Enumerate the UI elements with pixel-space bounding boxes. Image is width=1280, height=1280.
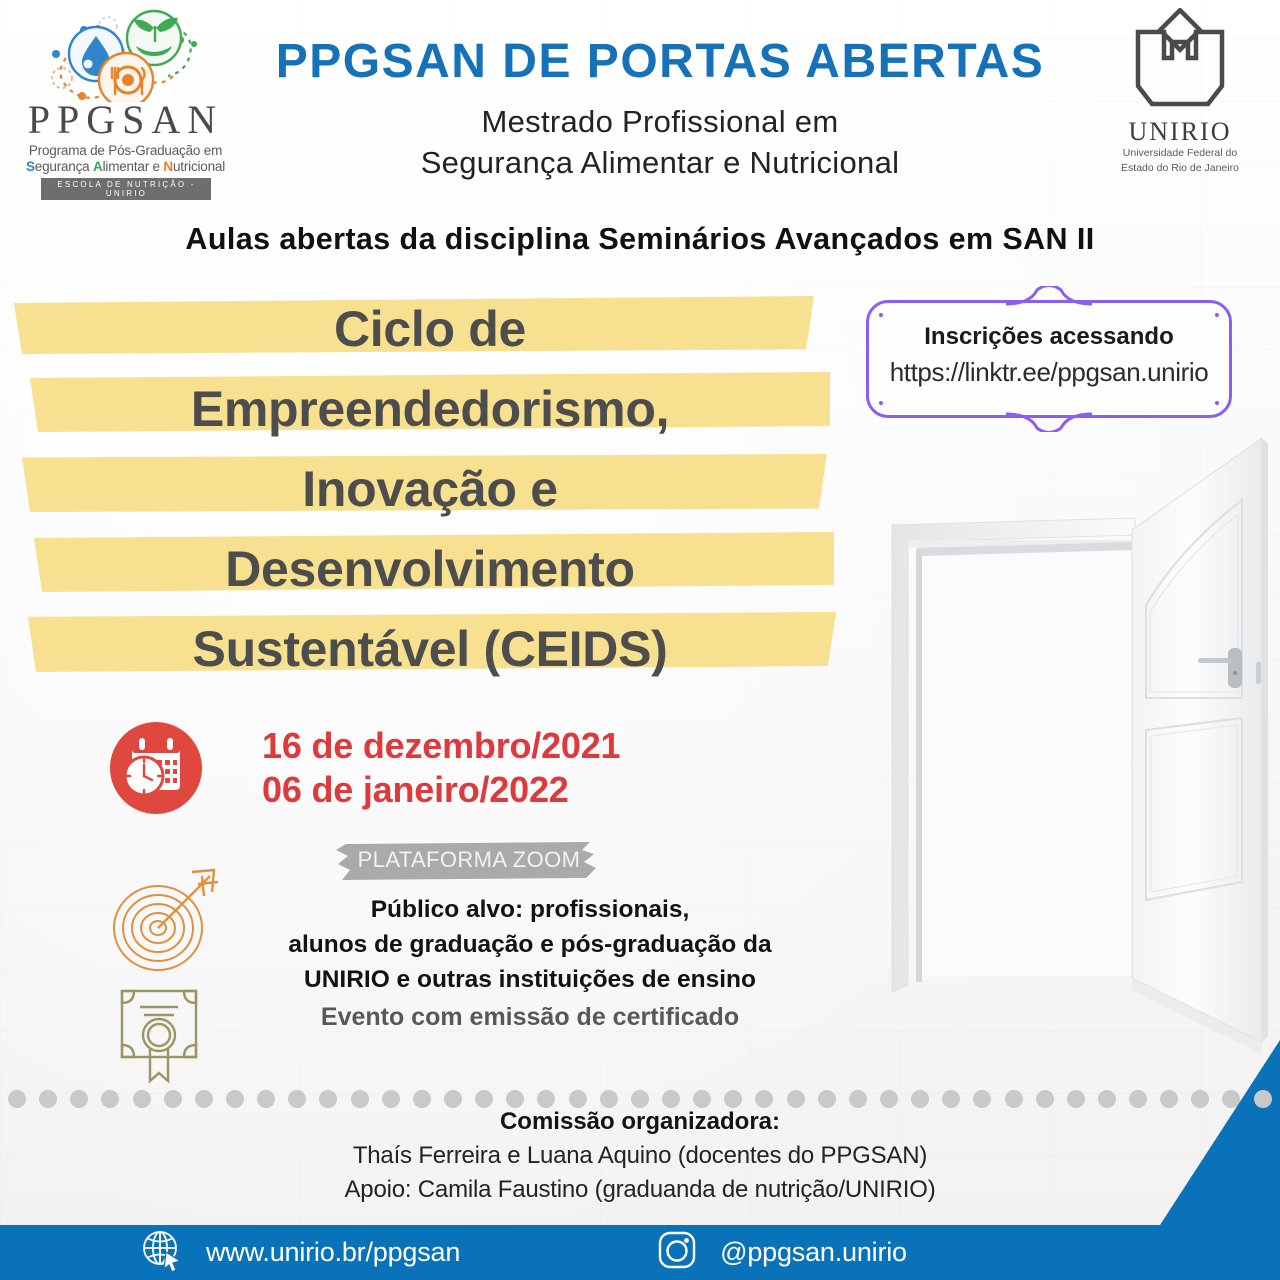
page-subtitle: Mestrado Profissional em Segurança Alime…: [240, 102, 1080, 184]
platform-label: PLATAFORMA ZOOM: [336, 840, 602, 880]
event-title: Ciclo de Empreendedorismo, Inovação e De…: [0, 290, 860, 690]
globe-cursor-icon: [140, 1228, 184, 1277]
target-arrow-icon: [106, 866, 224, 978]
divider-dot: [133, 1090, 151, 1108]
platform-ribbon: PLATAFORMA ZOOM: [336, 840, 602, 887]
discipline-line: Aulas abertas da disciplina Seminários A…: [0, 222, 1280, 257]
tagline-n: N: [163, 159, 173, 174]
divider-dot: [724, 1090, 742, 1108]
divider-dot: [257, 1090, 275, 1108]
divider-dot: [195, 1090, 213, 1108]
event-title-row-4: Desenvolvimento: [0, 530, 860, 610]
committee-line-1: Thaís Ferreira e Luana Aquino (docentes …: [0, 1142, 1280, 1170]
date-line-2: 06 de janeiro/2022: [262, 768, 620, 812]
audience-text: Público alvo: profissionais, alunos de g…: [210, 892, 850, 997]
divider-dot: [569, 1090, 587, 1108]
divider-dot: [475, 1090, 493, 1108]
divider-dot: [164, 1090, 182, 1108]
committee-block: Comissão organizadora: Thaís Ferreira e …: [0, 1108, 1280, 1204]
tagline-a: A: [93, 159, 103, 174]
page-title: PPGSAN DE PORTAS ABERTAS: [240, 34, 1080, 89]
registration-box[interactable]: Inscrições acessando https://linktr.ee/p…: [866, 300, 1232, 418]
unirio-crest-icon: [1100, 8, 1260, 112]
ppgsan-tagline-2: Segurança Alimentar e Nutricional: [18, 159, 233, 175]
divider-dot: [413, 1090, 431, 1108]
divider-dot: [849, 1090, 867, 1108]
event-title-line-4: Desenvolvimento: [0, 530, 860, 594]
event-title-line-1: Ciclo de: [0, 290, 860, 354]
audience-line-1: Público alvo: profissionais,: [210, 892, 850, 927]
open-door-illustration: [850, 430, 1280, 1120]
event-title-row-1: Ciclo de: [0, 290, 860, 370]
divider-dot: [506, 1090, 524, 1108]
event-title-row-2: Empreendedorismo,: [0, 370, 860, 450]
divider-dot: [382, 1090, 400, 1108]
divider-dot: [1222, 1090, 1240, 1108]
divider-dot: [818, 1090, 836, 1108]
divider-dot: [1160, 1090, 1178, 1108]
corner-dot-top-left: [879, 313, 883, 317]
divider-dot: [319, 1090, 337, 1108]
unirio-sub-2: Estado do Rio de Janeiro: [1100, 162, 1260, 175]
committee-line-2: Apoio: Camila Faustino (graduanda de nut…: [0, 1176, 1280, 1204]
divider-dot: [1254, 1090, 1272, 1108]
footer-website-text[interactable]: www.unirio.br/ppgsan: [206, 1237, 460, 1268]
divider-dot: [8, 1090, 26, 1108]
tagline-s: S: [26, 159, 35, 174]
divider-dot: [631, 1090, 649, 1108]
divider-dot: [444, 1090, 462, 1108]
event-title-row-3: Inovação e: [0, 450, 860, 530]
divider-dot: [662, 1090, 680, 1108]
ppgsan-logo: PPGSAN Programa de Pós-Graduação em Segu…: [18, 6, 233, 200]
divider-dot: [351, 1090, 369, 1108]
divider-dot: [537, 1090, 555, 1108]
divider-dot: [755, 1090, 773, 1108]
unirio-logo: UNIRIO Universidade Federal do Estado do…: [1100, 8, 1260, 175]
unirio-wordmark: UNIRIO: [1100, 119, 1260, 145]
divider-dot: [600, 1090, 618, 1108]
divider-dot: [288, 1090, 306, 1108]
certificate-icon: [110, 985, 214, 1085]
footer-bar: www.unirio.br/ppgsan @ppgsan.unirio: [0, 1225, 1280, 1280]
registration-heading: Inscrições acessando: [869, 323, 1229, 351]
committee-heading: Comissão organizadora:: [0, 1108, 1280, 1136]
divider-dot: [70, 1090, 88, 1108]
divider-dot: [911, 1090, 929, 1108]
ppgsan-logo-icons: [26, 6, 226, 102]
unirio-sub-1: Universidade Federal do: [1100, 147, 1260, 160]
tagline-egurança: egurança: [35, 159, 93, 174]
header: PPGSAN Programa de Pós-Graduação em Segu…: [0, 0, 1280, 200]
bracket-top-decoration: [1004, 286, 1094, 306]
audience-line-2: alunos de graduação e pós-graduação da: [210, 927, 850, 962]
ppgsan-school-bar: ESCOLA DE NUTRIÇÃO - UNIRIO: [41, 178, 211, 200]
plate-cutlery-icon: [99, 53, 153, 102]
audience-line-3: UNIRIO e outras instituições de ensino: [210, 962, 850, 997]
event-title-row-5: Sustentável (CEIDS): [0, 610, 860, 690]
divider-dot: [787, 1090, 805, 1108]
corner-dot-top-right: [1215, 313, 1219, 317]
corner-dot-bottom-left: [879, 401, 883, 405]
divider-dot: [1036, 1090, 1054, 1108]
date-block: 16 de dezembro/2021 06 de janeiro/2022: [110, 722, 620, 814]
tagline-limentar: limentar e: [103, 159, 164, 174]
ppgsan-wordmark: PPGSAN: [18, 100, 233, 140]
footer-website[interactable]: www.unirio.br/ppgsan: [140, 1228, 460, 1277]
instagram-icon: [656, 1229, 698, 1276]
divider-dot: [226, 1090, 244, 1108]
divider-dot: [942, 1090, 960, 1108]
divider-dot: [1005, 1090, 1023, 1108]
date-text: 16 de dezembro/2021 06 de janeiro/2022: [262, 724, 620, 812]
bracket-bottom-decoration: [1004, 412, 1094, 432]
event-title-line-3: Inovação e: [0, 450, 860, 514]
ppgsan-tagline-1: Programa de Pós-Graduação em: [18, 143, 233, 159]
event-title-line-5: Sustentável (CEIDS): [0, 610, 860, 674]
divider-dot: [1067, 1090, 1085, 1108]
date-line-1: 16 de dezembro/2021: [262, 724, 620, 768]
divider-dot: [1129, 1090, 1147, 1108]
page-subtitle-line2: Segurança Alimentar e Nutricional: [240, 143, 1080, 184]
divider-dot: [1098, 1090, 1116, 1108]
registration-link[interactable]: https://linktr.ee/ppgsan.unirio: [869, 357, 1229, 388]
tagline-utricional: utricional: [173, 159, 225, 174]
divider-dot: [1191, 1090, 1209, 1108]
corner-dot-bottom-right: [1215, 401, 1219, 405]
divider-dot: [880, 1090, 898, 1108]
calendar-clock-icon: [110, 722, 202, 814]
footer-instagram[interactable]: @ppgsan.unirio: [656, 1229, 907, 1276]
divider-dot: [973, 1090, 991, 1108]
footer-instagram-text[interactable]: @ppgsan.unirio: [720, 1237, 907, 1268]
certificate-text: Evento com emissão de certificado: [210, 1003, 850, 1032]
event-title-line-2: Empreendedorismo,: [0, 370, 860, 434]
divider-dot: [101, 1090, 119, 1108]
divider-dot: [39, 1090, 57, 1108]
page-subtitle-line1: Mestrado Profissional em: [240, 102, 1080, 143]
divider-dot: [693, 1090, 711, 1108]
